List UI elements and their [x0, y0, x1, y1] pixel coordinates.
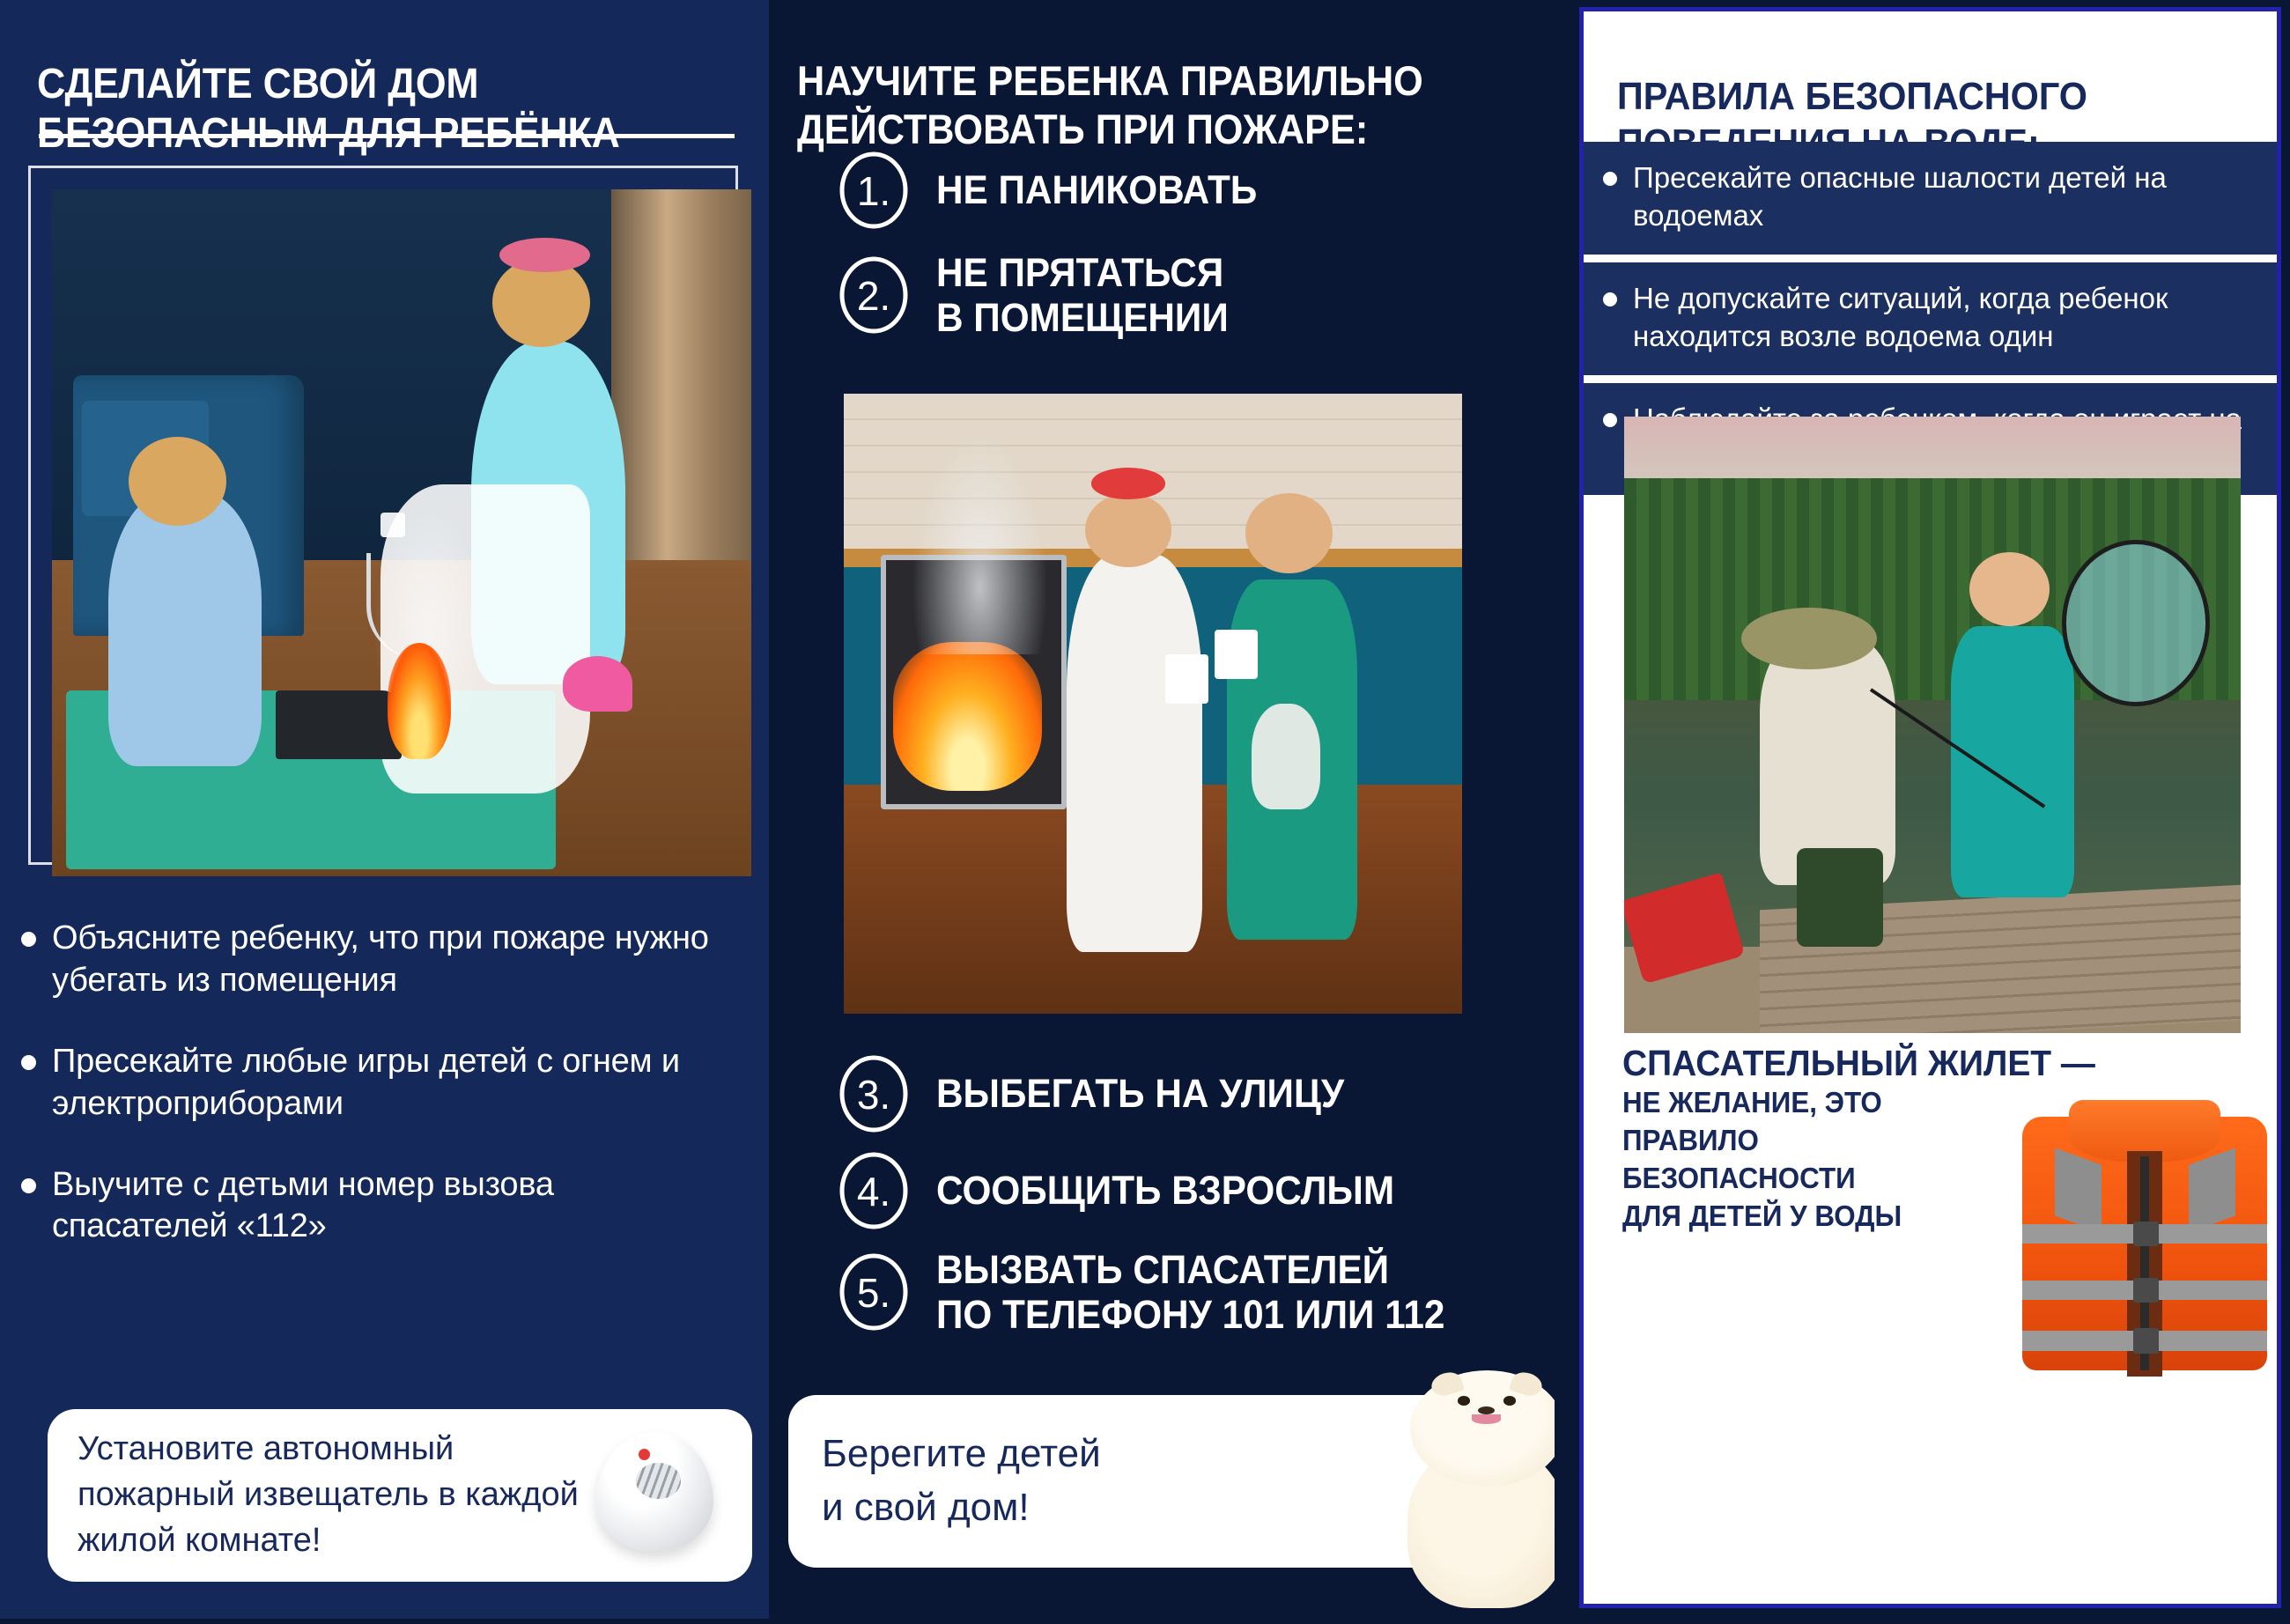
left-title-divider: [39, 134, 735, 138]
photo-girl-head: [1085, 493, 1171, 567]
life-jacket-line-3: ПРАВИЛО: [1622, 1124, 2007, 1158]
photo-hair-curlers: [499, 238, 590, 272]
dog-ear-right: [1509, 1369, 1545, 1399]
bullet-text: Пресекайте любые игры детей с огнем и эл…: [52, 1041, 735, 1126]
photo-fishing-net: [2062, 540, 2210, 706]
right-photo-frame: [1624, 417, 2241, 1033]
left-photo-frame: [28, 166, 738, 865]
detector-led-icon: [639, 1449, 650, 1460]
photo-sun-hat: [1741, 608, 1877, 669]
bullet-dot-icon: [21, 932, 36, 947]
photo-iron: [276, 690, 402, 759]
photo-boy-head: [1245, 493, 1332, 574]
dog-eye-left: [1458, 1396, 1470, 1406]
step-number-circle: 1.: [838, 150, 910, 231]
middle-column-title: НАУЧИТЕ РЕБЕНКА ПРАВИЛЬНО ДЕЙСТВОВАТЬ ПР…: [797, 57, 1478, 154]
water-safety-panel: ПРАВИЛА БЕЗОПАСНОГО ПОВЕДЕНИЯ НА ВОДЕ: П…: [1579, 7, 2281, 1608]
dog-ear-left: [1429, 1369, 1465, 1399]
life-jacket-icon: [1999, 1100, 2290, 1382]
column-water-safety: ПРАВИЛА БЕЗОПАСНОГО ПОВЕДЕНИЯ НА ВОДЕ: П…: [1555, 0, 2290, 1619]
smoke-detector-callout: Установите автономный пожарный извещател…: [48, 1409, 752, 1582]
jacket-buckle: [2133, 1278, 2160, 1303]
step-label: НЕ ПАНИКОВАТЬ: [936, 167, 1257, 212]
dog-head: [1410, 1370, 1564, 1487]
smoke-detector-icon: [574, 1423, 733, 1569]
column-home-safety: СДЕЛАЙТЕ СВОЙ ДОМ БЕЗОПАСНЫМ ДЛЯ РЕБЁНКА: [0, 0, 769, 1619]
photo-cup: [1165, 654, 1208, 704]
bullet-dot-icon: [21, 1178, 36, 1193]
bullet-dot-icon: [1603, 172, 1617, 186]
bullet-text: Не допускайте ситуаций, когда ребенок на…: [1633, 280, 2254, 356]
list-item: 2. НЕ ПРЯТАТЬСЯ В ПОМЕЩЕНИИ: [838, 250, 1542, 341]
protect-children-text: Берегите детей и свой дом!: [788, 1428, 1282, 1534]
jacket-buckle: [2133, 1222, 2160, 1247]
photo-children-iron-fire: [52, 189, 751, 876]
photo-flame: [388, 643, 450, 760]
step-number-circle: 5.: [838, 1251, 910, 1332]
step-number-circle: 3.: [838, 1053, 910, 1134]
step-number: 2.: [838, 255, 910, 336]
dog-eye-right: [1503, 1396, 1516, 1406]
dog-mouth: [1472, 1414, 1501, 1424]
jacket-buckle: [2133, 1328, 2160, 1354]
step-number: 1.: [838, 150, 910, 231]
left-bullet-list: Объясните ребенку, что при пожаре нужно …: [21, 918, 735, 1287]
list-item: 1. НЕ ПАНИКОВАТЬ: [838, 150, 1542, 231]
step-label: ВЫЗВАТЬ СПАСАТЕЛЕЙ ПО ТЕЛЕФОНУ 101 ИЛИ 1…: [936, 1247, 1444, 1338]
column-fire-actions: НАУЧИТЕ РЕБЕНКА ПРАВИЛЬНО ДЕЙСТВОВАТЬ ПР…: [769, 0, 1555, 1619]
list-item: 5. ВЫЗВАТЬ СПАСАТЕЛЕЙ ПО ТЕЛЕФОНУ 101 ИЛ…: [838, 1247, 1560, 1338]
list-item: Выучите с детьми номер вызова спасателей…: [21, 1164, 735, 1249]
step-label: НЕ ПРЯТАТЬСЯ В ПОМЕЩЕНИИ: [936, 250, 1229, 341]
list-item: Объясните ребенку, что при пожаре нужно …: [21, 918, 735, 1002]
bullet-dot-icon: [1603, 292, 1617, 306]
life-jacket-callout: СПАСАТЕЛЬНЫЙ ЖИЛЕТ — НЕ ЖЕЛАНИЕ, ЭТО ПРА…: [1622, 1044, 2274, 1378]
photo-rubber-boots: [1797, 848, 1883, 947]
detector-body: [596, 1432, 713, 1551]
life-jacket-line-5: ДЛЯ ДЕТЕЙ У ВОДЫ: [1622, 1200, 2007, 1234]
photo-oven-mitt: [1252, 704, 1319, 809]
photo-girl-bathrobe: [1067, 555, 1202, 952]
life-jacket-headline: СПАСАТЕЛЬНЫЙ ЖИЛЕТ —: [1622, 1044, 2242, 1082]
bullet-text: Пресекайте опасные шалости детей на водо…: [1633, 159, 2254, 235]
photo-girl-head: [1969, 552, 2050, 626]
photo-boy: [108, 491, 262, 766]
photo-pink-shoe: [563, 656, 632, 711]
step-number: 3.: [838, 1053, 910, 1134]
photo-children-kitchen-fire: [844, 394, 1462, 1014]
step-number-circle: 2.: [838, 255, 910, 336]
list-item: 3. ВЫБЕГАТЬ НА УЛИЦУ: [838, 1053, 1560, 1134]
photo-cup: [1215, 630, 1258, 679]
photo-smoke: [912, 431, 1047, 653]
step-number-circle: 4.: [838, 1150, 910, 1231]
step-label: ВЫБЕГАТЬ НА УЛИЦУ: [936, 1071, 1344, 1116]
photo-hair-curlers: [1091, 468, 1165, 498]
dog-nose: [1478, 1406, 1495, 1414]
list-item: Пресекайте опасные шалости детей на водо…: [1584, 142, 2277, 255]
life-jacket-line-4: БЕЗОПАСНОСТИ: [1622, 1162, 2007, 1196]
photo-girl: [1951, 626, 2074, 897]
safety-poster: СДЕЛАЙТЕ СВОЙ ДОМ БЕЗОПАСНЫМ ДЛЯ РЕБЁНКА: [0, 0, 2290, 1619]
smoke-detector-text: Установите автономный пожарный извещател…: [48, 1427, 594, 1563]
bullet-text: Объясните ребенку, что при пожаре нужно …: [52, 918, 735, 1002]
bullet-dot-icon: [21, 1055, 36, 1070]
steps-top-group: 1. НЕ ПАНИКОВАТЬ 2. НЕ ПРЯТАТЬСЯ В ПОМЕЩ…: [838, 150, 1542, 360]
list-item: Пресекайте любые игры детей с огнем и эл…: [21, 1041, 735, 1126]
steps-bottom-group: 3. ВЫБЕГАТЬ НА УЛИЦУ 4. СООБЩИТЬ ВЗРОСЛЫ…: [838, 1053, 1560, 1354]
step-number: 5.: [838, 1251, 910, 1332]
photo-boy-head: [129, 437, 226, 526]
step-label: СООБЩИТЬ ВЗРОСЛЫМ: [936, 1168, 1394, 1213]
list-item: Не допускайте ситуаций, когда ребенок на…: [1584, 262, 2277, 375]
photo-oven-fire: [893, 642, 1041, 791]
photo-children-lake-dock: [1624, 417, 2241, 1033]
protect-children-callout: Берегите детей и свой дом!: [788, 1395, 1466, 1568]
list-item: 4. СООБЩИТЬ ВЗРОСЛЫМ: [838, 1150, 1560, 1231]
left-column-title: СДЕЛАЙТЕ СВОЙ ДОМ БЕЗОПАСНЫМ ДЛЯ РЕБЁНКА: [37, 60, 684, 158]
bullet-text: Выучите с детьми номер вызова спасателей…: [52, 1164, 735, 1249]
detector-grill: [636, 1463, 681, 1499]
bullet-dot-icon: [1603, 413, 1617, 427]
life-jacket-line-2: НЕ ЖЕЛАНИЕ, ЭТО: [1622, 1086, 2007, 1120]
middle-photo-frame: [838, 388, 1468, 1020]
step-number: 4.: [838, 1150, 910, 1231]
